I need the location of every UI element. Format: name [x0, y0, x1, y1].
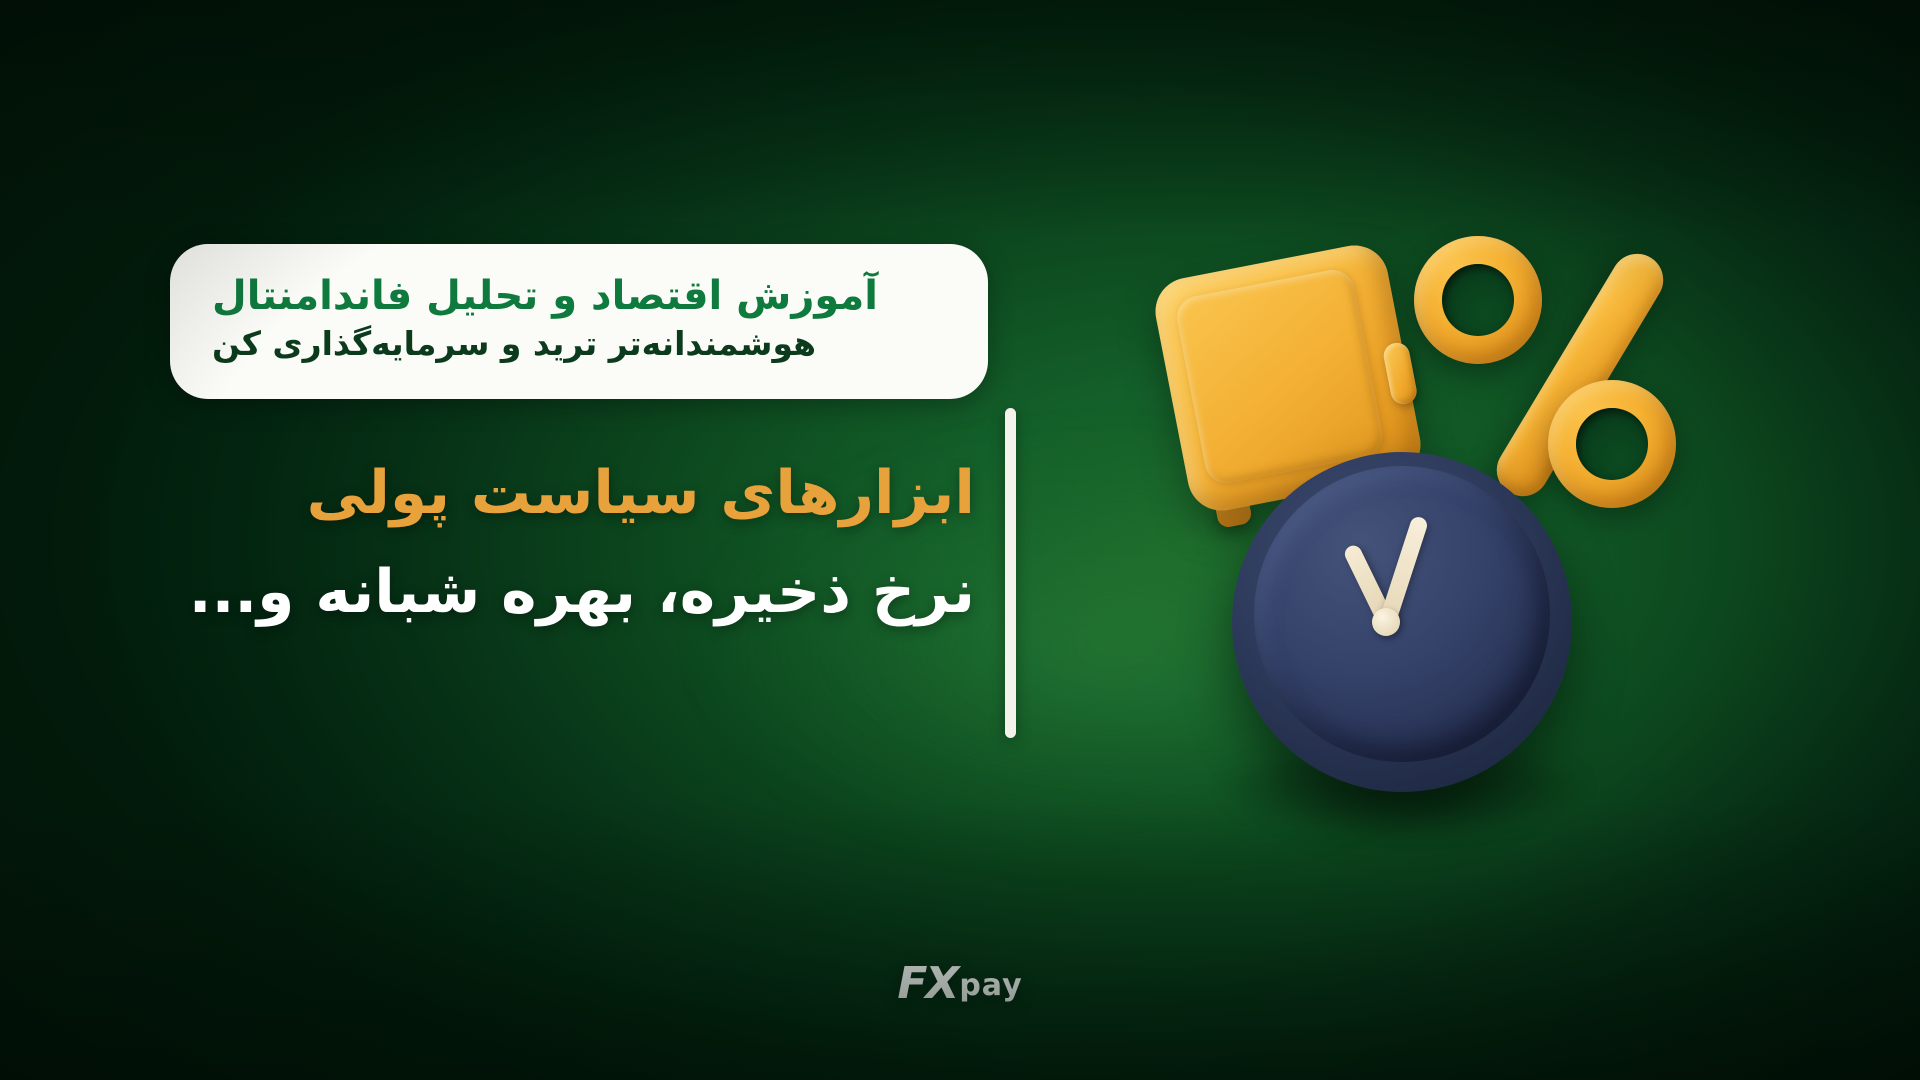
text-content: آموزش اقتصاد و تحلیل فاندامنتال هوشمندان… — [0, 0, 1180, 1080]
headline-line-secondary: نرخ ذخیره، بهره شبانه و... — [215, 554, 975, 631]
course-title-badge: آموزش اقتصاد و تحلیل فاندامنتال هوشمندان… — [170, 244, 988, 399]
fxpay-logo: pay FX — [897, 965, 1022, 1004]
clock-icon — [1232, 452, 1582, 802]
clock-center-pivot — [1372, 608, 1400, 636]
clock-face — [1254, 466, 1550, 762]
logo-wordmark: pay — [959, 971, 1022, 1004]
headline-line-primary: ابزارهای سیاست پولی — [215, 455, 975, 532]
course-title: آموزش اقتصاد و تحلیل فاندامنتال — [212, 274, 878, 320]
vertical-divider — [1005, 408, 1016, 738]
course-subtitle: هوشمندانه‌تر ترید و سرمایه‌گذاری کن — [212, 324, 816, 364]
percent-upper-ring — [1414, 236, 1542, 364]
banner-stage: آموزش اقتصاد و تحلیل فاندامنتال هوشمندان… — [0, 0, 1920, 1080]
logo-mark: FX — [897, 965, 957, 1004]
hero-illustration — [1170, 230, 1890, 880]
episode-headline: ابزارهای سیاست پولی نرخ ذخیره، بهره شبان… — [215, 455, 975, 631]
